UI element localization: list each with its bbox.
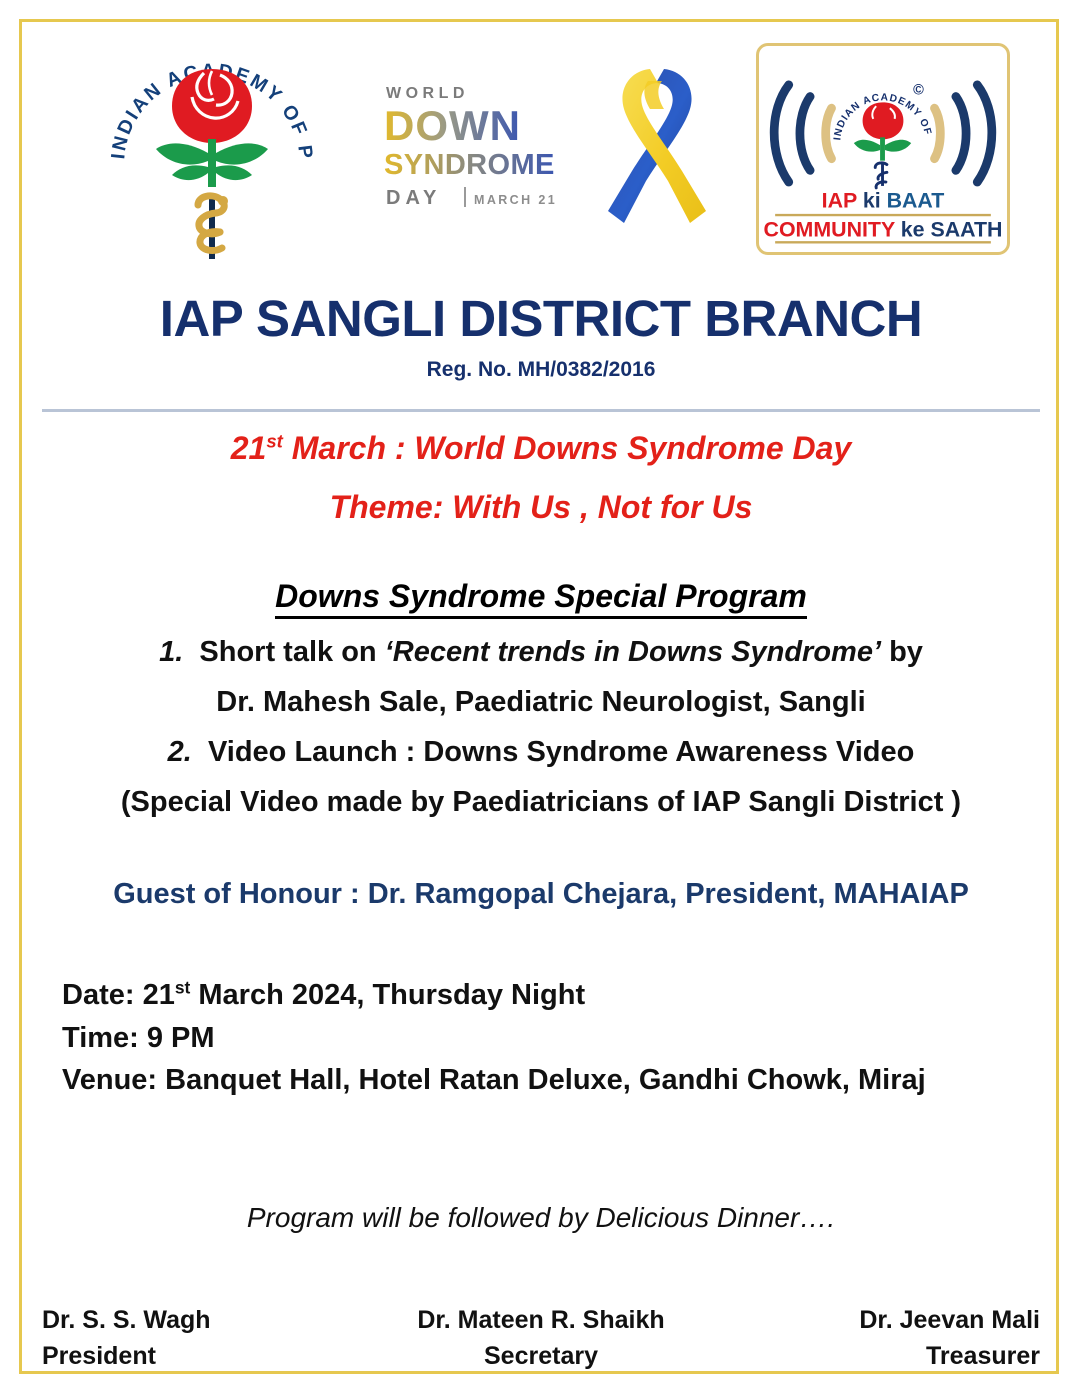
signatory-president: Dr. S. S. Wagh President [42, 1303, 361, 1374]
svg-text:IAP ki BAAT: IAP ki BAAT [822, 188, 945, 212]
event-venue: Venue: Banquet Hall, Hotel Ratan Deluxe,… [62, 1059, 1042, 1102]
iap-rose-caduceus-icon: INDIAN ACADEMY OF PEDIATRICS [92, 35, 332, 263]
iap-ki-baat-logo: INDIAN ACADEMY OF PEDIATRICS © [756, 43, 1010, 255]
observance-date-line: 21st March : World Downs Syndrome Day [0, 432, 1082, 464]
kibaat-ki-word: ki [863, 188, 887, 212]
program-heading-text: Downs Syndrome Special Program [275, 578, 807, 619]
guest-of-honour-line: Guest of Honour : Dr. Ramgopal Chejara, … [0, 878, 1082, 911]
event-date-label: Date: [62, 979, 143, 1011]
registration-number: Reg. No. MH/0382/2016 [0, 358, 1082, 382]
signatory-secretary-name: Dr. Mateen R. Shaikh [381, 1303, 700, 1339]
event-date-suffix: st [175, 977, 190, 997]
flyer-page: INDIAN ACADEMY OF PEDIATRICS [0, 0, 1082, 1395]
program-heading: Downs Syndrome Special Program [0, 578, 1082, 615]
program-item-1-line-2: Dr. Mahesh Sale, Paediatric Neurologist,… [0, 678, 1082, 728]
signatory-secretary-role: Secretary [381, 1339, 700, 1375]
signatory-treasurer: Dr. Jeevan Mali Treasurer [721, 1303, 1040, 1374]
wdsd-line-world: WORLD [386, 85, 469, 102]
observance-day-number: 21 [231, 430, 267, 466]
program-item-1-text-after: by [881, 636, 923, 668]
program-item-2-number: 2. [168, 736, 192, 768]
signatory-president-role: President [42, 1339, 361, 1375]
observance-theme-line: Theme: With Us , Not for Us [0, 491, 1082, 523]
program-item-2-line-2: (Special Video made by Paediatricians of… [0, 778, 1082, 828]
program-item-1-emphasis: ‘Recent trends in Downs Syndrome’ [385, 636, 881, 668]
event-details: Date: 21st March 2024, Thursday Night Ti… [62, 974, 1042, 1102]
program-item-2-line-1: 2. Video Launch : Downs Syndrome Awarene… [0, 728, 1082, 778]
event-date: Date: 21st March 2024, Thursday Night [62, 974, 1042, 1017]
theme-block: 21st March : World Downs Syndrome Day Th… [0, 432, 1082, 523]
program-list: 1. Short talk on ‘Recent trends in Downs… [0, 628, 1082, 828]
world-down-syndrome-day-logo: WORLD DOWN SYNDROME DAY MARCH 21 [374, 74, 574, 224]
svg-text:COMMUNITY ke SAATH: COMMUNITY ke SAATH [764, 217, 1003, 241]
kibaat-community-word: COMMUNITY [764, 217, 901, 241]
copyright-mark: © [913, 83, 924, 99]
signatory-treasurer-role: Treasurer [721, 1339, 1040, 1375]
wdsd-line-syndrome: SYNDROME [384, 149, 555, 181]
title-block: IAP SANGLI DISTRICT BRANCH Reg. No. MH/0… [0, 292, 1082, 382]
event-time: Time: 9 PM [62, 1017, 1042, 1060]
program-item-1-number: 1. [159, 636, 183, 668]
signatory-treasurer-name: Dr. Jeevan Mali [721, 1303, 1040, 1339]
kibaat-baat-word: BAAT [887, 188, 945, 212]
program-item-1-text-before: Short talk on [199, 636, 384, 668]
header-logo-row: INDIAN ACADEMY OF PEDIATRICS [30, 28, 1050, 270]
wdsd-line-day: DAY [386, 187, 441, 209]
kibaat-kesaath-word: ke SAATH [901, 217, 1003, 241]
header-divider [42, 409, 1040, 412]
wdsd-line-down: DOWN [384, 102, 521, 149]
program-item-1-line-1: 1. Short talk on ‘Recent trends in Downs… [0, 628, 1082, 678]
signatory-president-name: Dr. S. S. Wagh [42, 1303, 361, 1339]
kibaat-iap-word: IAP [822, 188, 863, 212]
page-title: IAP SANGLI DISTRICT BRANCH [0, 292, 1082, 346]
iap-academy-logo: INDIAN ACADEMY OF PEDIATRICS [92, 35, 332, 263]
signatory-secretary: Dr. Mateen R. Shaikh Secretary [381, 1303, 700, 1374]
event-date-number: 21 [143, 979, 175, 1011]
program-item-2-text-before: Video Launch : Downs Syndrome Awareness … [208, 736, 914, 768]
awareness-ribbon-icon [602, 59, 712, 239]
observance-day-rest: March : World Downs Syndrome Day [283, 430, 851, 466]
event-date-rest: March 2024, Thursday Night [190, 979, 585, 1011]
signatory-row: Dr. S. S. Wagh President Dr. Mateen R. S… [42, 1303, 1040, 1374]
observance-day-suffix: st [266, 430, 283, 451]
dinner-note: Program will be followed by Delicious Di… [0, 1202, 1082, 1234]
wdsd-line-march: MARCH 21 [474, 193, 557, 207]
